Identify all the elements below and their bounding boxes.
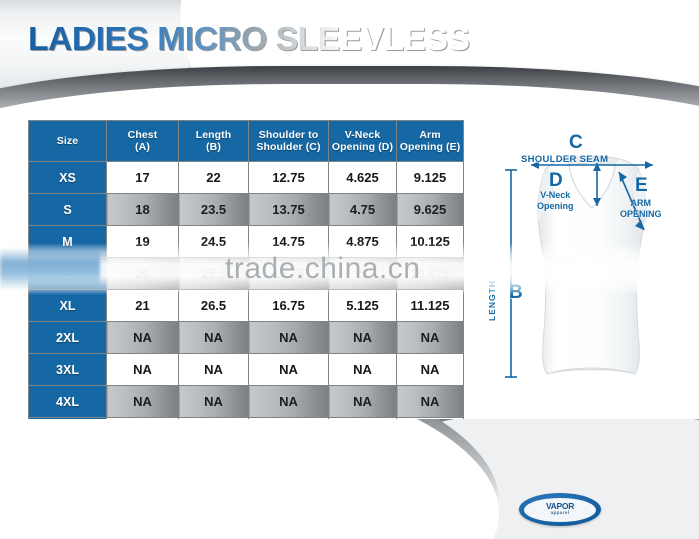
cell-shoulder-to-shoulder: NA (249, 386, 329, 418)
cell-shoulder-to-shoulder: 14.75 (249, 226, 329, 258)
cell-size: 2XL (29, 322, 107, 354)
column-header-length-line2: (B) (179, 141, 248, 153)
diagram-label-arm-line1: ARM (620, 198, 662, 209)
cell-shoulder-to-shoulder: NA (249, 322, 329, 354)
size-chart-table-container: Size Chest (A) Length (B) Shoulder to Sh… (28, 120, 463, 450)
cell-length: 24.5 (179, 226, 249, 258)
diagram-label-vneck: V-Neck Opening (537, 190, 574, 211)
table-header-row: Size Chest (A) Length (B) Shoulder to Sh… (29, 121, 464, 162)
cell-v-neck-opening: NA (329, 354, 397, 386)
cell-chest: 21 (107, 290, 179, 322)
diagram-label-b: B (509, 282, 523, 304)
cell-chest: 17 (107, 162, 179, 194)
cell-v-neck-opening: 5.125 (329, 290, 397, 322)
footer-wave-left-cutout (0, 419, 510, 539)
diagram-label-e: E (635, 175, 648, 197)
diagram-label-length: LENGTH (487, 280, 497, 321)
diagram-label-d: D (549, 170, 563, 192)
column-header-size-line1: Size (29, 135, 106, 147)
cell-arm-opening: NA (397, 322, 464, 354)
cell-v-neck-opening: NA (329, 386, 397, 418)
table-row: L2025.515.75510.625 (29, 258, 464, 290)
cell-shoulder-to-shoulder: 12.75 (249, 162, 329, 194)
cell-chest: NA (107, 322, 179, 354)
cell-length: NA (179, 322, 249, 354)
cell-arm-opening: 10.625 (397, 258, 464, 290)
diagram-label-shoulder-seam: SHOULDER SEAM (521, 154, 608, 165)
column-header-arm-line1: Arm (397, 129, 463, 141)
column-header-length: Length (B) (179, 121, 249, 162)
table-row: M1924.514.754.87510.125 (29, 226, 464, 258)
column-header-size: Size (29, 121, 107, 162)
column-header-vneck-line2: Opening (D) (329, 141, 396, 153)
cell-arm-opening: NA (397, 354, 464, 386)
size-chart-page: LADIES MICRO SLEEVLESS Size Chest (A) Le… (0, 0, 699, 539)
cell-length: NA (179, 354, 249, 386)
column-header-arm-line2: Opening (E) (397, 141, 463, 153)
column-header-shoulder-line1: Shoulder to (249, 129, 328, 141)
diagram-label-arm-opening: ARM OPENING (620, 198, 662, 219)
cell-shoulder-to-shoulder: 16.75 (249, 290, 329, 322)
column-header-shoulder-line2: Shoulder (C) (249, 141, 328, 153)
cell-size: XL (29, 290, 107, 322)
cell-size: 4XL (29, 386, 107, 418)
column-header-length-line1: Length (179, 129, 248, 141)
page-header: LADIES MICRO SLEEVLESS (0, 0, 699, 112)
cell-v-neck-opening: 4.75 (329, 194, 397, 226)
cell-v-neck-opening: 5 (329, 258, 397, 290)
cell-shoulder-to-shoulder: 15.75 (249, 258, 329, 290)
cell-arm-opening: 10.125 (397, 226, 464, 258)
column-header-chest-line1: Chest (107, 129, 178, 141)
logo-subtitle: apparel (528, 510, 592, 515)
cell-size: L (29, 258, 107, 290)
shoulder-arrow-right (645, 161, 653, 169)
cell-size: S (29, 194, 107, 226)
cell-size: 3XL (29, 354, 107, 386)
column-header-vneck-line1: V-Neck (329, 129, 396, 141)
cell-chest: 19 (107, 226, 179, 258)
cell-arm-opening: 9.125 (397, 162, 464, 194)
diagram-label-vneck-line1: V-Neck (537, 190, 574, 201)
cell-chest: NA (107, 386, 179, 418)
table-row: 3XLNANANANANA (29, 354, 464, 386)
cell-v-neck-opening: NA (329, 322, 397, 354)
garment-diagram: C SHOULDER SEAM D V-Neck Opening E ARM O… (487, 130, 692, 420)
table-row: 4XLNANANANANA (29, 386, 464, 418)
cell-chest: 20 (107, 258, 179, 290)
column-header-chest: Chest (A) (107, 121, 179, 162)
diagram-label-vneck-line2: Opening (537, 201, 574, 212)
size-chart-table: Size Chest (A) Length (B) Shoulder to Sh… (28, 120, 464, 450)
cell-v-neck-opening: 4.625 (329, 162, 397, 194)
cell-chest: NA (107, 354, 179, 386)
column-header-chest-line2: (A) (107, 141, 178, 153)
cell-shoulder-to-shoulder: NA (249, 354, 329, 386)
diagram-label-c: C (569, 132, 583, 154)
cell-shoulder-to-shoulder: 13.75 (249, 194, 329, 226)
diagram-label-arm-line2: OPENING (620, 209, 662, 220)
cell-length: 25.5 (179, 258, 249, 290)
cell-length: 23.5 (179, 194, 249, 226)
cell-arm-opening: 9.625 (397, 194, 464, 226)
table-row: XL2126.516.755.12511.125 (29, 290, 464, 322)
page-title: LADIES MICRO SLEEVLESS (28, 20, 469, 58)
cell-length: 26.5 (179, 290, 249, 322)
table-row: XS172212.754.6259.125 (29, 162, 464, 194)
column-header-arm: Arm Opening (E) (397, 121, 464, 162)
column-header-shoulder: Shoulder to Shoulder (C) (249, 121, 329, 162)
cell-arm-opening: 11.125 (397, 290, 464, 322)
table-body: XS172212.754.6259.125S1823.513.754.759.6… (29, 162, 464, 450)
garment-illustration (487, 130, 692, 420)
column-header-vneck: V-Neck Opening (D) (329, 121, 397, 162)
cell-length: NA (179, 386, 249, 418)
cell-chest: 18 (107, 194, 179, 226)
table-row: 2XLNANANANANA (29, 322, 464, 354)
cell-v-neck-opening: 4.875 (329, 226, 397, 258)
cell-arm-opening: NA (397, 386, 464, 418)
brand-logo: VAPOR apparel (519, 493, 601, 526)
table-row: S1823.513.754.759.625 (29, 194, 464, 226)
cell-length: 22 (179, 162, 249, 194)
cell-size: M (29, 226, 107, 258)
cell-size: XS (29, 162, 107, 194)
